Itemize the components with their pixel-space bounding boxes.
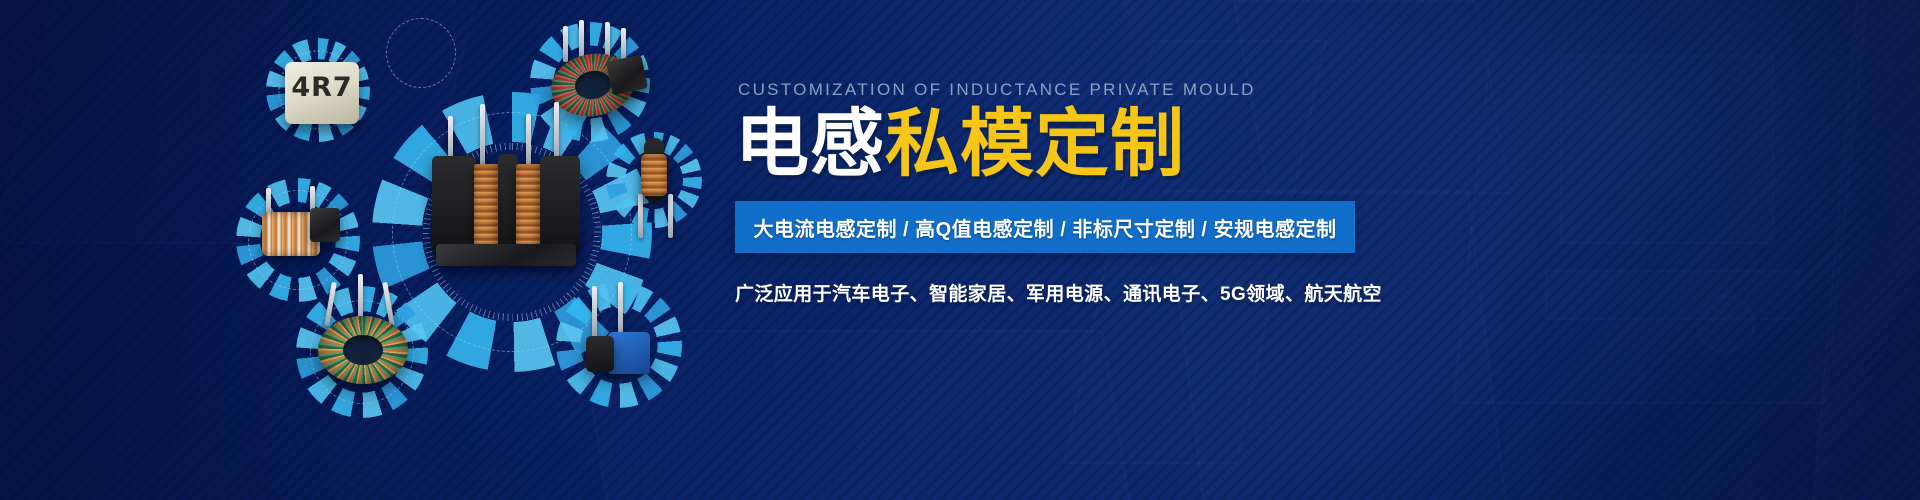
component-lead (324, 282, 337, 326)
smd-part-label: 4R7 (285, 72, 359, 103)
headline-accent: 私模定制 (885, 102, 1185, 185)
choke-bobbin-right (540, 156, 580, 252)
product-green-toroidal-inductor (310, 288, 418, 396)
page-title: 电感私模定制 (735, 106, 1715, 181)
component-lead (668, 194, 673, 238)
copper-winding (641, 154, 667, 196)
product-blue-radial-inductor (578, 292, 660, 388)
component-lead (526, 114, 531, 166)
choke-foot (436, 244, 576, 266)
product-large-common-mode-choke (418, 112, 588, 272)
product-smd-power-inductor: 4R7 (282, 62, 362, 142)
feature-list-text: 大电流电感定制 / 高Q值电感定制 / 非标尺寸定制 / 安规电感定制 (753, 213, 1336, 242)
product-flat-wire-copper-inductor (252, 198, 348, 284)
component-lead (638, 194, 643, 238)
toroid-core (318, 316, 408, 384)
radial-base (586, 336, 614, 372)
choke-bobbin-left (432, 156, 476, 252)
component-lead (480, 104, 485, 166)
banner-eyebrow: CUSTOMIZATION OF INDUCTANCE PRIVATE MOUL… (738, 80, 1715, 100)
choke-base-block (606, 55, 648, 96)
banner-copy: CUSTOMIZATION OF INDUCTANCE PRIVATE MOUL… (735, 80, 1715, 306)
choke-bobbin-mid (498, 154, 518, 254)
applications-text: 广泛应用于汽车电子、智能家居、军用电源、通讯电子、5G领域、航天航空 (735, 279, 1715, 306)
feature-list-bar: 大电流电感定制 / 高Q值电感定制 / 非标尺寸定制 / 安规电感定制 (735, 201, 1355, 253)
component-lead (563, 26, 568, 62)
headline-primary: 电感 (735, 102, 885, 185)
component-lead (618, 282, 623, 338)
hero-banner: 4R7 (0, 0, 1920, 500)
blue-housing (608, 332, 650, 374)
tech-ring-stray-top (386, 18, 456, 88)
component-lead (592, 286, 597, 338)
copper-winding (516, 164, 542, 248)
flatwire-base-block (310, 208, 340, 242)
product-axial-rod-inductor (628, 140, 686, 236)
copper-winding (474, 164, 500, 248)
